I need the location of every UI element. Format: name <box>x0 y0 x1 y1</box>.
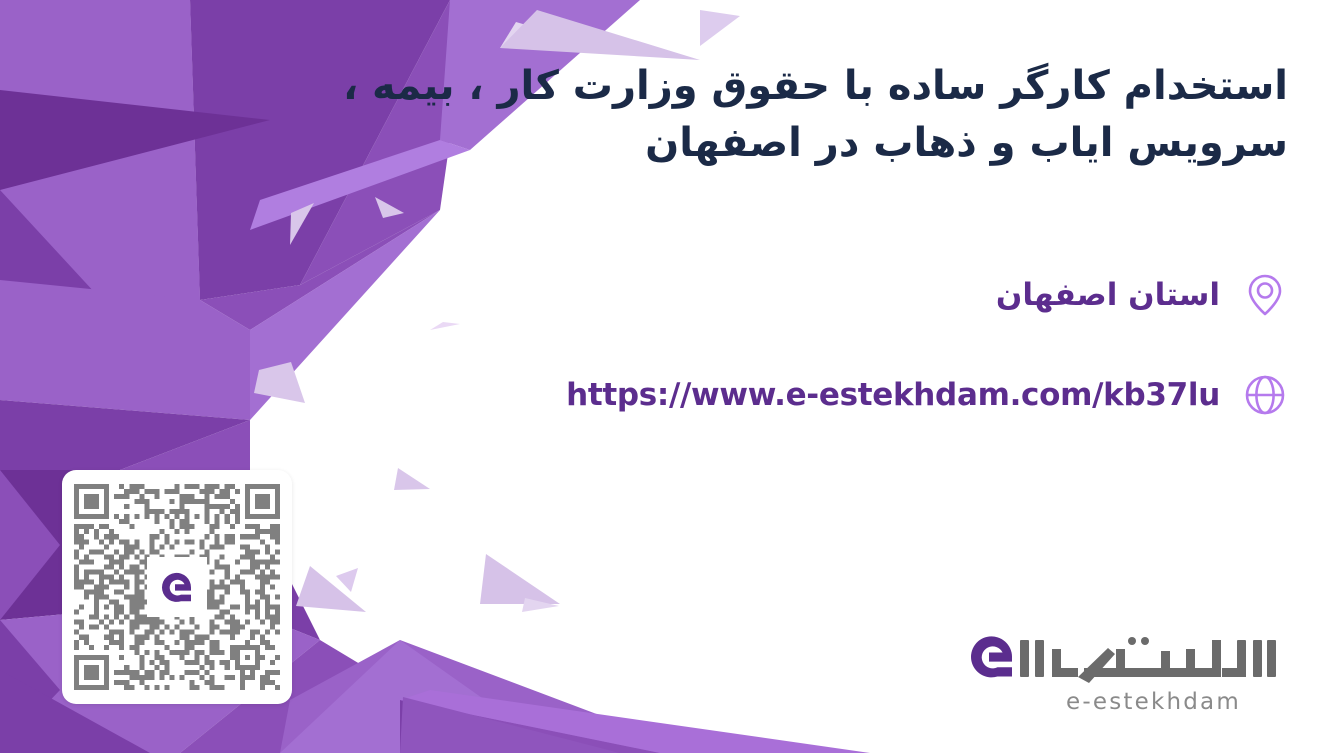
location-text: استان اصفهان <box>996 280 1220 311</box>
globe-icon <box>1242 372 1288 418</box>
map-pin-icon <box>1242 272 1288 318</box>
location-row: استان اصفهان <box>996 272 1288 318</box>
job-share-card: استخدام کارگر ساده با حقوق وزارت کار ، ب… <box>0 0 1340 753</box>
job-title: استخدام کارگر ساده با حقوق وزارت کار ، ب… <box>388 58 1288 172</box>
job-title-line-1: استخدام کارگر ساده با حقوق وزارت کار ، ب… <box>388 58 1288 115</box>
url-row[interactable]: https://www.e-estekhdam.com/kb37lu <box>566 372 1288 418</box>
e-logo-icon <box>147 557 207 617</box>
url-text[interactable]: https://www.e-estekhdam.com/kb37lu <box>566 380 1220 411</box>
qr-code-modules <box>74 482 280 692</box>
brand-logo: e-estekhdam <box>948 629 1278 715</box>
qr-code[interactable] <box>62 470 292 704</box>
brand-wordmark-en: e-estekhdam <box>948 689 1278 715</box>
brand-wordmark-fa-icon <box>956 629 1278 687</box>
job-title-line-2: سرویس ایاب و ذهاب در اصفهان <box>388 115 1288 172</box>
